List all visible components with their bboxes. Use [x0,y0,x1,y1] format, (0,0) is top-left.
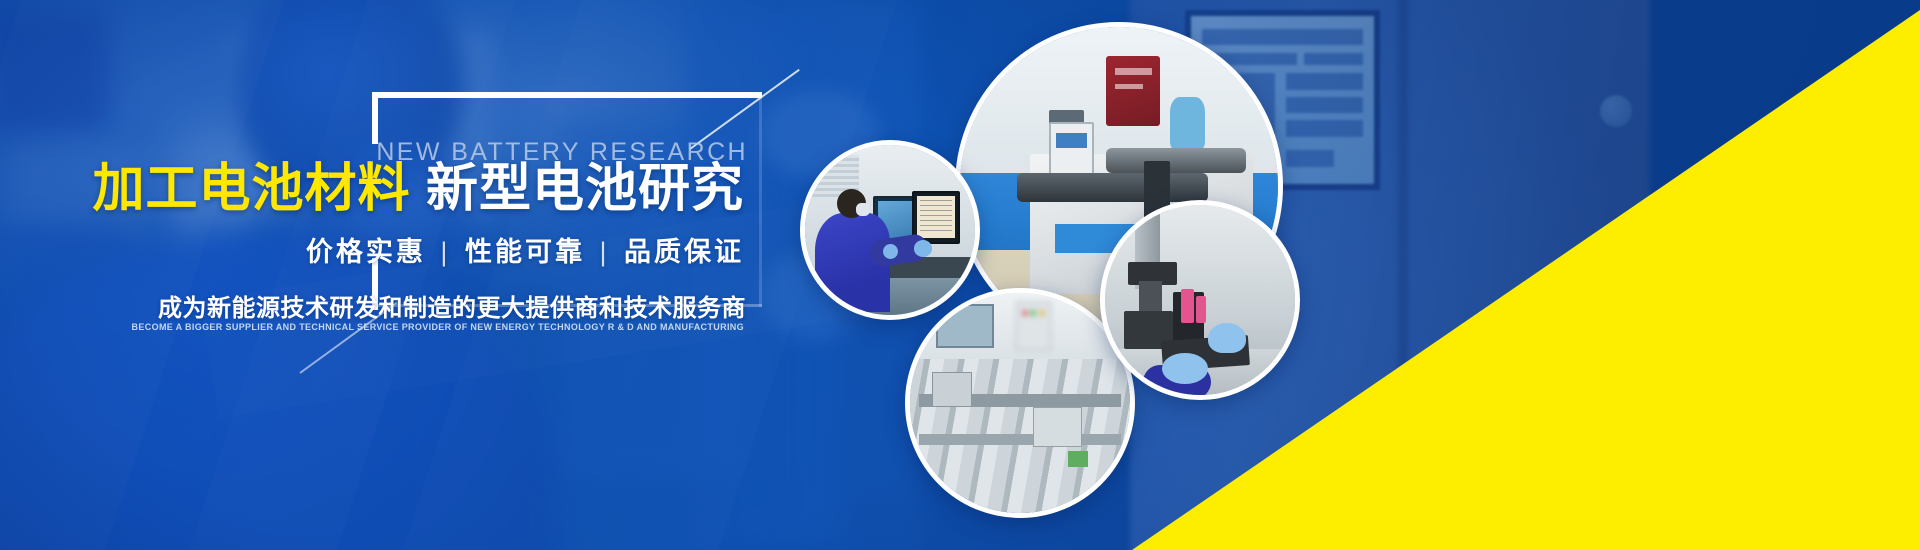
tagline-item-2: 性能可靠 [465,237,585,267]
tagline-item-3: 品质保证 [624,237,744,267]
headline-secondary: 新型电池研究 [426,160,744,218]
photo-scene-production-line [910,293,1130,513]
hero-banner: NEW BATTERY RESEARCH 加工电池材料 新型电池研究 价格实惠 … [0,0,1920,550]
photo-scene-engineer-monitors [805,145,975,315]
headline-primary: 加工电池材料 [93,160,411,218]
tagline-separator-1: | [436,237,454,267]
photo-circle-production-line [905,288,1135,518]
photo-circle-press-machine [1100,200,1300,400]
tagline: 价格实惠 | 性能可靠 | 品质保证 [306,230,744,269]
photo-scene-press-machine [1105,205,1295,395]
tagline-separator-2: | [595,237,613,267]
english-subline-text: BECOME A BIGGER SUPPLIER AND TECHNICAL S… [132,322,744,332]
headline: 加工电池材料 新型电池研究 [93,160,744,220]
tagline-item-1: 价格实惠 [306,237,426,267]
subline-text: 成为新能源技术研发和制造的更大提供商和技术服务商 [158,288,746,323]
